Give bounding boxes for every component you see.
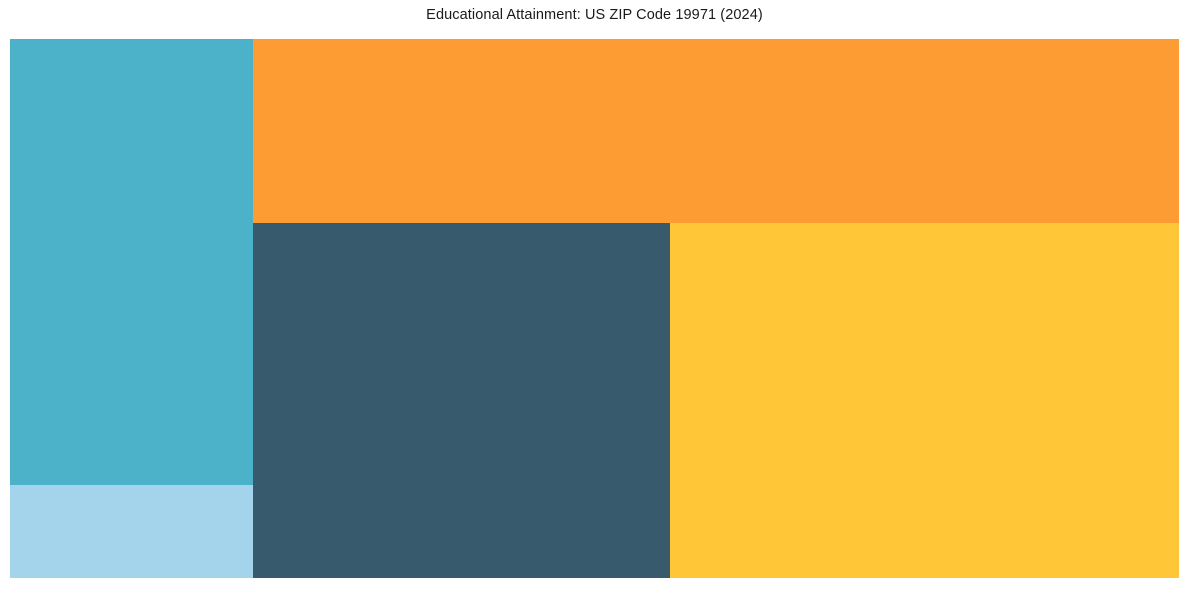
treemap-tile-teal[interactable]: Graduate or professional degree	[10, 39, 253, 485]
treemap-tile-orange[interactable]: Some college or associate's degree	[253, 39, 1179, 223]
treemap-tile-yellow[interactable]: Bachelor's degree	[670, 223, 1179, 578]
chart-figure: Educational Attainment: US ZIP Code 1997…	[0, 0, 1189, 590]
treemap-tile-dark-blue[interactable]: High school graduate	[253, 223, 670, 578]
treemap-plot-area: Graduate or professional degree Less tha…	[10, 39, 1179, 578]
chart-title: Educational Attainment: US ZIP Code 1997…	[0, 6, 1189, 24]
treemap-tile-light-blue[interactable]: Less than high school	[10, 485, 253, 578]
